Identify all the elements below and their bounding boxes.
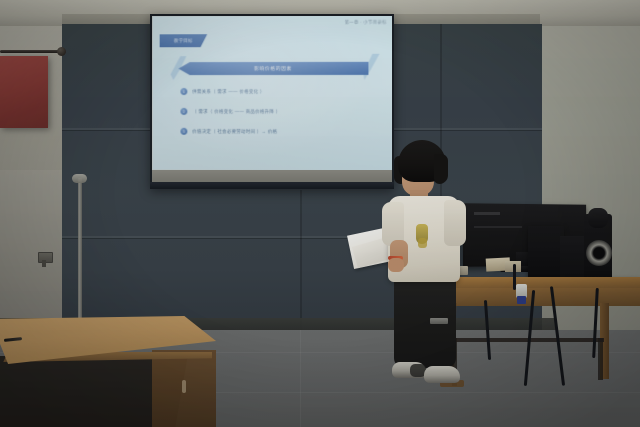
floor-tile-line-3: [300, 330, 301, 427]
panel-seam-vertical: [300, 190, 302, 330]
projected-slide: 第一章 · 小节目录标 教学目标 影响价格的因素 1 供需关系（ 需求 —— 价…: [153, 16, 392, 170]
speaker-tower-head: [588, 208, 608, 228]
ring-speaker-driver: [586, 240, 612, 266]
projection-screen-surface: 第一章 · 小节目录标 教学目标 影响价格的因素 1 供需关系（ 需求 —— 价…: [152, 16, 392, 170]
hair-side-right: [434, 154, 448, 184]
av-desk-rail-right: [598, 338, 603, 380]
presenting-student: [372, 140, 488, 390]
bullet-text: 供需关系（ 需求 —— 价格变化 ）: [192, 89, 264, 95]
wall-pipe-fitting: [72, 174, 87, 183]
list-item: 1 供需关系（ 需求 —— 价格变化 ）: [180, 88, 370, 95]
pants-pocket-label: [430, 318, 448, 324]
power-adapter-plug: [517, 296, 526, 304]
bullet-number-icon: 3: [180, 128, 187, 135]
slide-bullet-list: 1 供需关系（ 需求 —— 价格变化 ） 2 （ 需求（ 价格变化 —— 商品价…: [180, 88, 370, 148]
bullet-text: （ 需求（ 价格变化 —— 商品价格升降 ）: [192, 108, 280, 114]
curtain-rod-knob: [57, 47, 66, 56]
list-item: 2 （ 需求（ 价格变化 —— 商品价格升降 ）: [180, 108, 370, 115]
speaker-cabinet-left: [528, 226, 564, 278]
tshirt-sleeve-right: [444, 200, 466, 246]
red-wall-banner: [0, 56, 48, 128]
lectern-handle[interactable]: [182, 380, 186, 393]
bullet-number-icon: 2: [180, 108, 187, 115]
bullet-number-icon: 1: [180, 88, 187, 95]
wall-pipe: [78, 178, 82, 320]
list-item: 3 价值决定（ 社会必要劳动时间 ）→ 价格: [180, 128, 370, 135]
slide-section-tag: 教学目标: [160, 34, 208, 47]
hand: [388, 258, 404, 272]
classroom-photo-scene: 第一章 · 小节目录标 教学目标 影响价格的因素 1 供需关系（ 需求 —— 价…: [0, 0, 640, 427]
projection-screen-bottom-edge: [150, 182, 394, 189]
slide-section-tag-label: 教学目标: [174, 38, 193, 44]
bullet-text: 价值决定（ 社会必要劳动时间 ）→ 价格: [192, 128, 277, 134]
slide-title-banner: 影响价格的因素: [178, 62, 368, 75]
slide-header-text: 第一章 · 小节目录标: [345, 20, 387, 26]
sneaker-right: [424, 366, 460, 383]
wall-socket-nub: [42, 260, 46, 267]
slide-title-text: 影响价格的因素: [254, 65, 292, 72]
tshirt-graphic-lower: [418, 238, 427, 248]
